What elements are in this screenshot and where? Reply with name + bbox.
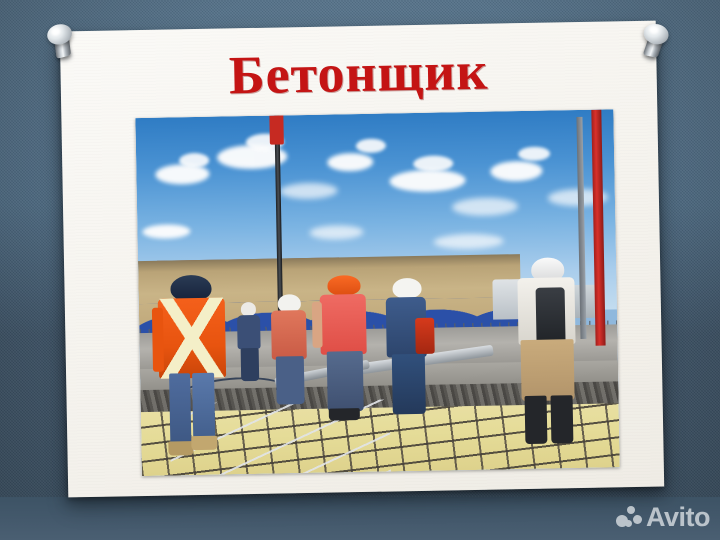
- hard-hat-icon: [393, 278, 422, 299]
- worker-white-hat-left: [268, 294, 313, 402]
- pinned-card: Бетонщик: [60, 21, 664, 498]
- avito-wordmark: Avito: [646, 504, 710, 531]
- rubber-boot: [551, 395, 573, 444]
- worker-distant: [234, 302, 264, 381]
- equipment-backpack: [536, 287, 566, 347]
- page-title: Бетонщик: [60, 41, 657, 106]
- legs: [240, 348, 258, 381]
- worker-red-shirt: [315, 275, 375, 419]
- worker-blue-shirt: [382, 277, 437, 414]
- work-boot: [169, 441, 194, 456]
- work-boot: [191, 435, 217, 450]
- torso: [320, 294, 367, 355]
- construction-photo: [135, 109, 619, 476]
- leg: [192, 373, 215, 445]
- arm: [312, 302, 322, 348]
- worker-orange-vest: [153, 274, 238, 454]
- legs: [327, 351, 364, 412]
- torso: [271, 310, 306, 360]
- rubber-boot: [525, 395, 547, 444]
- equipment-pack: [415, 318, 435, 354]
- background-bottom-band: [0, 497, 720, 540]
- legs: [392, 354, 426, 414]
- slide-canvas: Бетонщик: [0, 0, 720, 540]
- arm: [152, 307, 165, 372]
- worker-tan-pants: [511, 257, 586, 444]
- safety-vest: [158, 297, 226, 379]
- hard-hat-icon: [328, 275, 360, 296]
- vest-reflective-stripes: [158, 297, 226, 379]
- torso: [237, 315, 260, 350]
- concrete-pump-hose: [269, 112, 284, 144]
- avito-logo-icon: [616, 506, 642, 530]
- work-boot: [329, 408, 360, 420]
- photo-frame: [135, 109, 619, 476]
- avito-watermark: Avito: [616, 504, 710, 531]
- leg: [169, 373, 191, 449]
- legs: [521, 339, 575, 401]
- legs: [276, 356, 305, 404]
